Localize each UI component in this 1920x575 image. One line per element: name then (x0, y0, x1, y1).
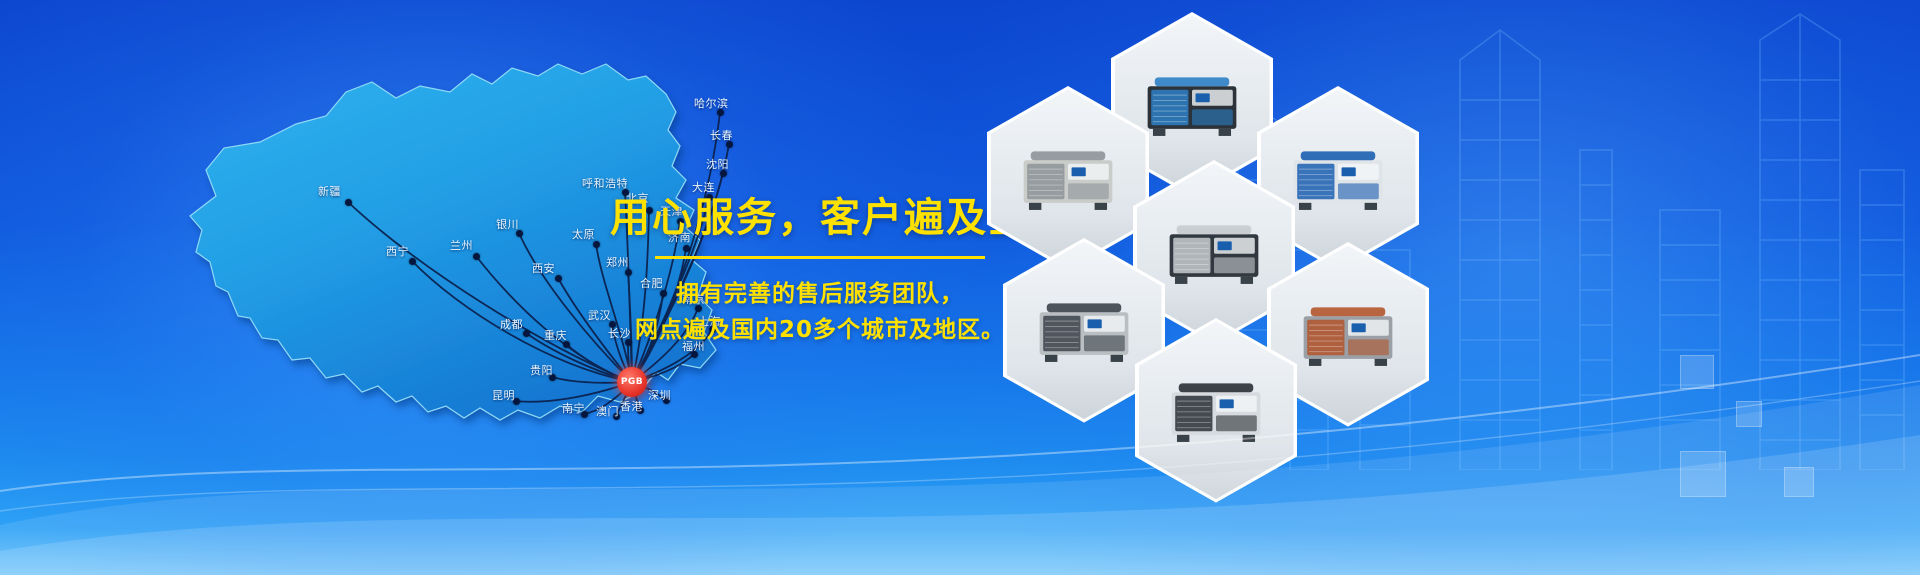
promo-banner: 新疆银川呼和浩特哈尔滨长春沈阳大连北京天津太原西宁兰州济南郑州西安合肥南京上海武… (0, 0, 1920, 575)
city-dot[interactable] (473, 253, 480, 260)
city-dot[interactable] (345, 199, 352, 206)
city-dot[interactable] (593, 241, 600, 248)
city-label: 西安 (532, 263, 555, 274)
city-label: 沈阳 (706, 159, 729, 170)
city-label: 哈尔滨 (694, 98, 729, 109)
city-label: 太原 (572, 229, 595, 240)
light-ribbon-graphic (0, 315, 1920, 575)
city-dot[interactable] (555, 275, 562, 282)
decorative-squares (1680, 355, 1900, 545)
city-label: 兰州 (450, 240, 473, 251)
city-label: 新疆 (318, 186, 341, 197)
city-label: 大连 (692, 182, 715, 193)
city-label: 西宁 (386, 246, 409, 257)
headline-divider (655, 256, 985, 259)
banner-headline: 用心服务，客户遍及全国 (610, 196, 1030, 240)
city-label: 呼和浩特 (582, 178, 628, 189)
city-label: 长春 (710, 130, 733, 141)
banner-subtitle-line-1: 拥有完善的售后服务团队， (610, 277, 1030, 313)
city-dot[interactable] (409, 258, 416, 265)
city-label: 银川 (496, 219, 519, 230)
